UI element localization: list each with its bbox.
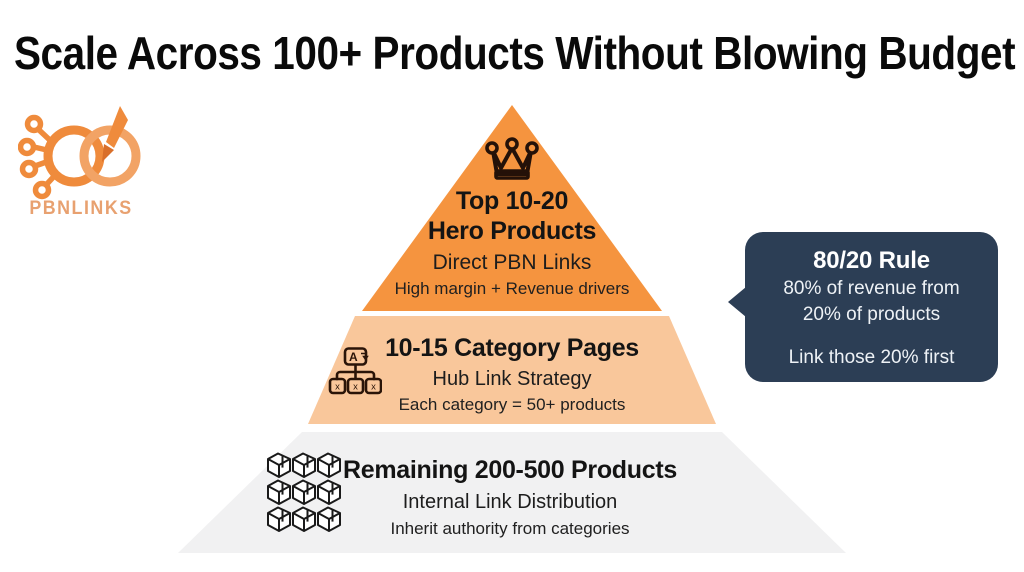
callout-title: 80/20 Rule xyxy=(761,246,982,276)
tier-2-subtitle: Hub Link Strategy xyxy=(322,366,702,392)
tier-3-note: Inherit authority from categories xyxy=(300,517,720,540)
tier-3-heading-line1: Remaining 200-500 Products xyxy=(300,455,720,485)
pyramid-tier-1-label: Top 10-20 Hero Products Direct PBN Links… xyxy=(330,186,694,300)
tier-3-subtitle: Internal Link Distribution xyxy=(300,489,720,515)
tier-1-subtitle: Direct PBN Links xyxy=(330,249,694,276)
tier-2-heading-line1: 10-15 Category Pages xyxy=(322,333,702,363)
crown-icon xyxy=(483,136,541,182)
pyramid-tier-2-label: 10-15 Category Pages Hub Link Strategy E… xyxy=(322,333,702,416)
tier-1-note: High margin + Revenue drivers xyxy=(330,278,694,300)
callout-line-2: 20% of products xyxy=(761,302,982,328)
callout-line-1: 80% of revenue from xyxy=(761,276,982,302)
tier-2-note: Each category = 50+ products xyxy=(322,394,702,416)
pyramid-tier-3-label: Remaining 200-500 Products Internal Link… xyxy=(300,455,720,540)
callout-box-80-20-rule: 80/20 Rule 80% of revenue from 20% of pr… xyxy=(745,232,998,382)
tier-1-heading-line1: Top 10-20 xyxy=(330,186,694,216)
tier-1-heading-line2: Hero Products xyxy=(330,216,694,246)
callout-line-3: Link those 20% first xyxy=(761,345,982,371)
pbnlinks-rings-rocket-icon xyxy=(18,104,144,204)
callout-tail xyxy=(728,287,746,317)
infographic-canvas: Scale Across 100+ Products Without Blowi… xyxy=(0,0,1024,572)
page-title: Scale Across 100+ Products Without Blowi… xyxy=(14,24,947,82)
logo-wordmark: PBNLINKS xyxy=(22,198,140,220)
brand-logo: PBNLINKS xyxy=(18,104,144,228)
